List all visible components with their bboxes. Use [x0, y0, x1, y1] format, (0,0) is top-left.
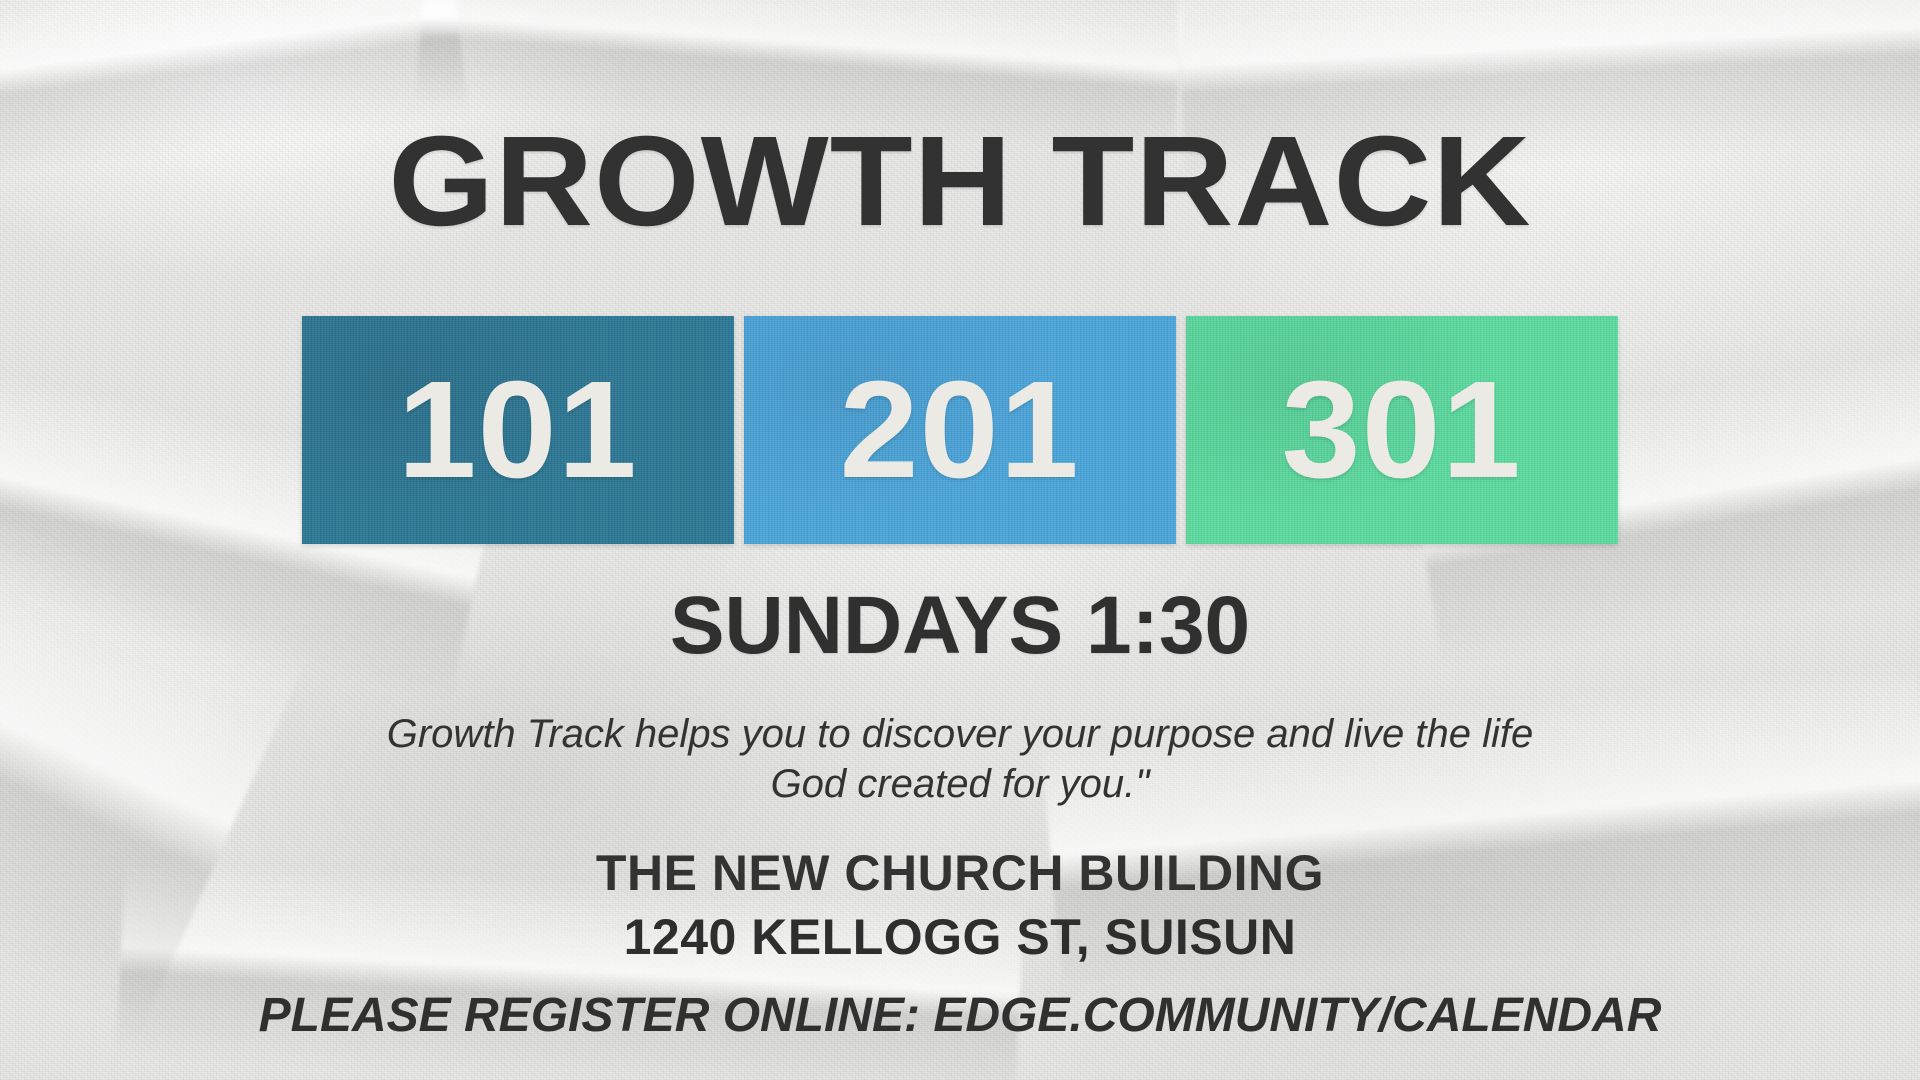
venue-address: 1240 KELLOGG ST, SUISUN: [0, 912, 1920, 962]
track-label-201: 201: [840, 361, 1080, 499]
track-block-201[interactable]: 201: [744, 316, 1176, 544]
venue-name: THE NEW CHURCH BUILDING: [0, 848, 1920, 898]
growth-track-poster: GROWTH TRACK 101 201 301 SUNDAYS 1:30 Gr…: [0, 0, 1920, 1080]
schedule-heading: SUNDAYS 1:30: [0, 585, 1920, 667]
track-label-301: 301: [1282, 361, 1522, 499]
registration-callout[interactable]: PLEASE REGISTER ONLINE: EDGE.COMMUNITY/C…: [0, 992, 1920, 1040]
description-text: Growth Track helps you to discover your …: [350, 710, 1570, 809]
page-title: GROWTH TRACK: [0, 118, 1920, 246]
track-block-group: 101 201 301: [302, 316, 1618, 544]
poster-content: GROWTH TRACK 101 201 301 SUNDAYS 1:30 Gr…: [0, 0, 1920, 1080]
track-block-301[interactable]: 301: [1186, 316, 1618, 544]
track-label-101: 101: [398, 361, 638, 499]
track-block-101[interactable]: 101: [302, 316, 734, 544]
